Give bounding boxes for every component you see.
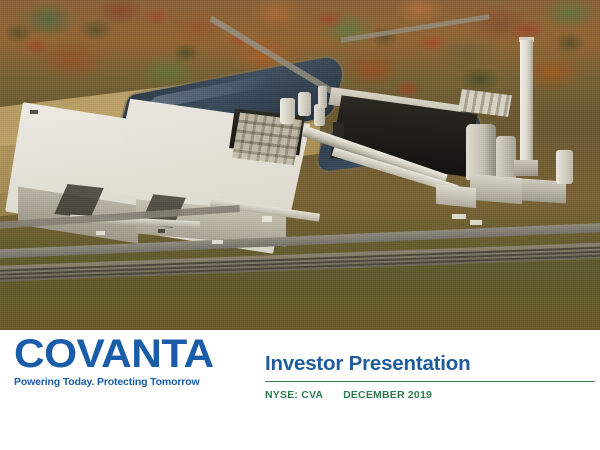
photo-grain-overlay <box>0 0 600 330</box>
title-divider-rule <box>265 381 595 382</box>
page-title: Investor Presentation <box>265 352 595 376</box>
presentation-date: DECEMBER 2019 <box>343 389 432 401</box>
title-block: Investor Presentation NYSE: CVA DECEMBER… <box>265 352 595 401</box>
ticker-symbol: NYSE: CVA <box>265 389 323 401</box>
slide-footer-band: COVANTA Powering Today. Protecting Tomor… <box>0 330 600 450</box>
ticker-date-line: NYSE: CVA DECEMBER 2019 <box>265 389 595 401</box>
presentation-slide: COVANTA Powering Today. Protecting Tomor… <box>0 0 600 450</box>
hero-aerial-photo <box>0 0 600 330</box>
covanta-tagline: Powering Today. Protecting Tomorrow <box>14 376 214 389</box>
covanta-wordmark: COVANTA <box>14 333 226 375</box>
covanta-logo: COVANTA Powering Today. Protecting Tomor… <box>14 333 214 389</box>
